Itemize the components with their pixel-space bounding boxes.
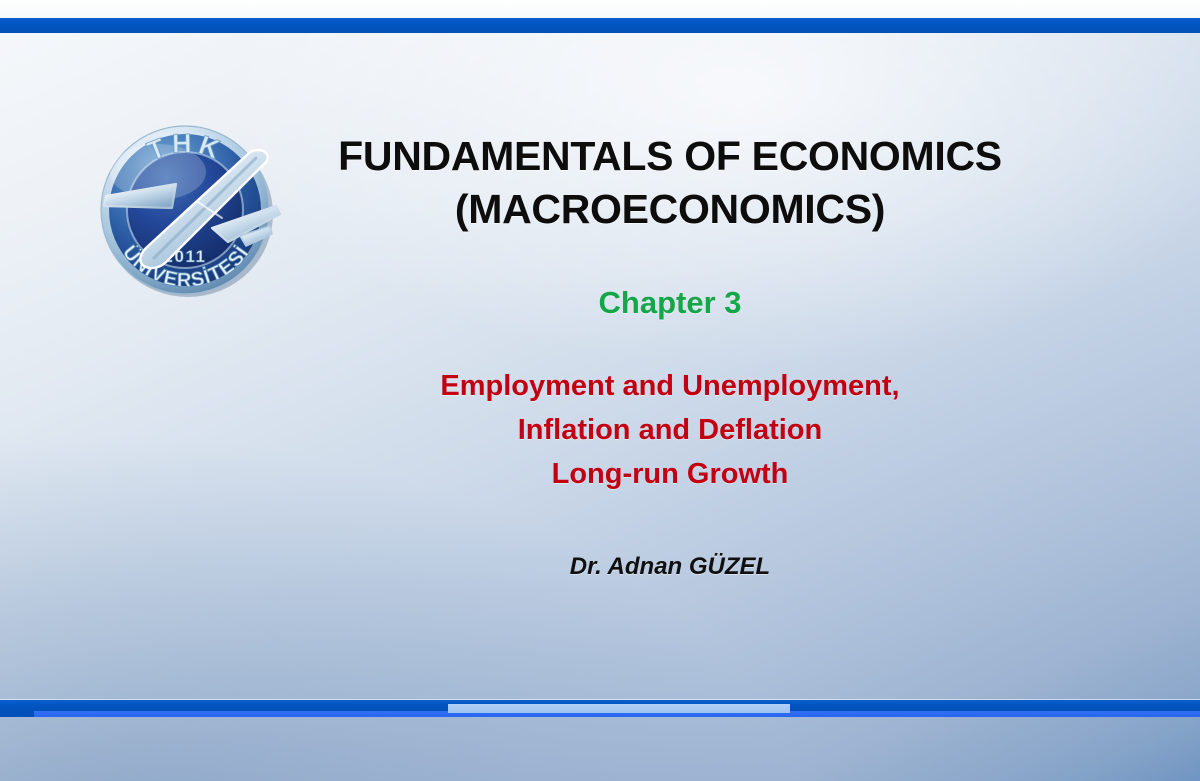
- top-accent-bar: [0, 18, 1200, 33]
- author-name: Dr. Adnan GÜZEL: [300, 496, 1040, 582]
- bottom-bar-left-nub: [0, 711, 34, 717]
- topic-line-3: Long-run Growth: [300, 452, 1040, 496]
- topic-line-2: Inflation and Deflation: [300, 408, 1040, 452]
- slide-text-content: FUNDAMENTALS OF ECONOMICS (MACROECONOMIC…: [300, 130, 1040, 582]
- chapter-label: Chapter 3: [300, 236, 1040, 322]
- bottom-bar-highlight-segment: [448, 704, 790, 713]
- logo-svg: THK 2011 ÜNİVERSİTESİ: [80, 110, 290, 310]
- page-title: FUNDAMENTALS OF ECONOMICS (MACROECONOMIC…: [300, 130, 1040, 236]
- title-slide: THK 2011 ÜNİVERSİTESİ: [0, 0, 1200, 781]
- topic-list: Employment and Unemployment, Inflation a…: [300, 322, 1040, 496]
- thk-universitesi-logo: THK 2011 ÜNİVERSİTESİ: [80, 110, 290, 310]
- topic-line-1: Employment and Unemployment,: [300, 364, 1040, 408]
- title-line-2: (MACROECONOMICS): [300, 183, 1040, 236]
- title-line-1: FUNDAMENTALS OF ECONOMICS: [338, 133, 1002, 179]
- top-white-strip: [0, 0, 1200, 18]
